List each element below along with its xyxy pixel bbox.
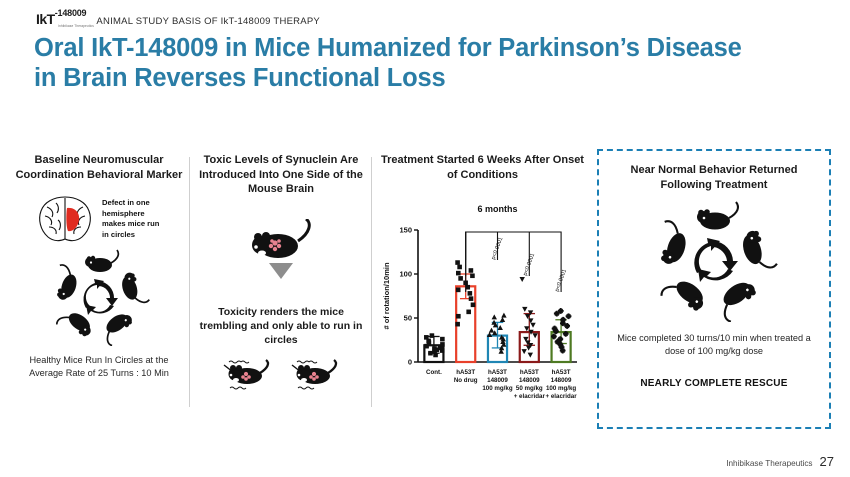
svg-text:p<0.0001: p<0.0001 bbox=[554, 269, 568, 293]
page-title-line-1: Oral IkT-148009 in Mice Humanized for Pa… bbox=[34, 33, 834, 63]
brain-illustration-row: Defect in one hemisphere makes mice run … bbox=[14, 194, 184, 244]
company-logo: IkT -148009 Inhibikase Therapeutics bbox=[36, 12, 86, 26]
svg-text:100 mg/kg: 100 mg/kg bbox=[482, 385, 512, 392]
panel-baseline-title: Baseline Neuromuscular Coordination Beha… bbox=[14, 153, 184, 182]
svg-text:148009: 148009 bbox=[519, 377, 540, 384]
page-title-line-2: in Brain Reverses Functional Loss bbox=[34, 63, 834, 93]
svg-text:148009: 148009 bbox=[487, 377, 508, 384]
svg-text:hA53T: hA53T bbox=[456, 369, 475, 376]
panel-rescue-note: Mice completed 30 turns/10 min when trea… bbox=[599, 332, 829, 358]
svg-text:+ elacridar: + elacridar bbox=[546, 393, 578, 400]
svg-text:0: 0 bbox=[408, 358, 412, 367]
svg-text:+ elacridar: + elacridar bbox=[514, 393, 546, 400]
logo-subtext: Inhibikase Therapeutics bbox=[58, 25, 94, 28]
svg-text:Cont.: Cont. bbox=[426, 369, 442, 376]
svg-text:p<0.0001: p<0.0001 bbox=[491, 237, 505, 261]
panel-baseline-note: Healthy Mice Run In Circles at the Avera… bbox=[14, 354, 184, 380]
mice-circle-illustration-baseline bbox=[14, 248, 184, 346]
trembling-mouse-icon-1 bbox=[221, 359, 273, 391]
panel-baseline: Baseline Neuromuscular Coordination Beha… bbox=[14, 145, 184, 380]
panel-rescue-title: Near Normal Behavior Returned Following … bbox=[599, 163, 829, 192]
rescue-conclusion-badge: NEARLY COMPLETE RESCUE bbox=[599, 378, 829, 389]
brain-defect-note: Defect in one hemisphere makes mice run … bbox=[102, 198, 164, 240]
footer-page-number: 27 bbox=[820, 454, 834, 469]
svg-text:hA53T: hA53T bbox=[488, 369, 507, 376]
panel-divider-1 bbox=[189, 157, 190, 407]
panel-chart: Treatment Started 6 Weeks After Onset of… bbox=[380, 145, 585, 426]
slide: IkT -148009 Inhibikase Therapeutics ANIM… bbox=[0, 0, 850, 477]
rotation-arrows-icon bbox=[694, 238, 738, 282]
panel-synuclein-title: Toxic Levels of Synuclein Are Introduced… bbox=[198, 153, 364, 197]
logo-product-code: -148009 bbox=[55, 9, 87, 18]
panel-chart-title: Treatment Started 6 Weeks After Onset of… bbox=[380, 153, 585, 182]
mouse-injection-illustration bbox=[198, 219, 364, 285]
brain-icon bbox=[34, 194, 96, 244]
section-eyebrow: ANIMAL STUDY BASIS OF IkT-148009 THERAPY bbox=[96, 16, 320, 27]
panel-synuclein-note: Toxicity renders the mice trembling and … bbox=[198, 305, 364, 347]
footer-company-name: Inhibikase Therapeutics bbox=[726, 459, 812, 468]
svg-text:p<0.0001: p<0.0001 bbox=[523, 253, 537, 277]
svg-text:No drug: No drug bbox=[454, 377, 478, 384]
down-arrow-icon bbox=[269, 263, 293, 279]
mice-circle-illustration-rescue bbox=[599, 200, 829, 322]
logo-mark-text: IkT bbox=[36, 12, 55, 26]
svg-text:50: 50 bbox=[404, 314, 412, 323]
trembling-mice-row bbox=[198, 359, 364, 391]
panel-synuclein: Toxic Levels of Synuclein Are Introduced… bbox=[198, 145, 364, 391]
svg-text:hA53T: hA53T bbox=[520, 369, 539, 376]
page-title: Oral IkT-148009 in Mice Humanized for Pa… bbox=[34, 33, 834, 93]
header-eyebrow-row: IkT -148009 Inhibikase Therapeutics ANIM… bbox=[36, 12, 320, 27]
panel-divider-2 bbox=[371, 157, 372, 407]
rotation-arrows-icon bbox=[83, 279, 118, 315]
trembling-mouse-icon-2 bbox=[289, 359, 341, 391]
svg-text:100 mg/kg: 100 mg/kg bbox=[546, 385, 576, 392]
svg-text:hA53T: hA53T bbox=[552, 369, 571, 376]
panel-rescue: Near Normal Behavior Returned Following … bbox=[597, 149, 831, 429]
panels-row: Baseline Neuromuscular Coordination Beha… bbox=[0, 145, 850, 435]
svg-text:148009: 148009 bbox=[551, 377, 572, 384]
svg-text:100: 100 bbox=[399, 270, 412, 279]
svg-text:6 months: 6 months bbox=[477, 204, 517, 214]
svg-text:# of rotation/10min: # of rotation/10min bbox=[382, 262, 391, 330]
svg-text:150: 150 bbox=[399, 226, 412, 235]
svg-text:50 mg/kg: 50 mg/kg bbox=[516, 385, 543, 392]
rotation-bar-chart: 6 months# of rotation/10min050100150Cont… bbox=[380, 196, 585, 426]
footer: Inhibikase Therapeutics 27 bbox=[726, 454, 834, 469]
